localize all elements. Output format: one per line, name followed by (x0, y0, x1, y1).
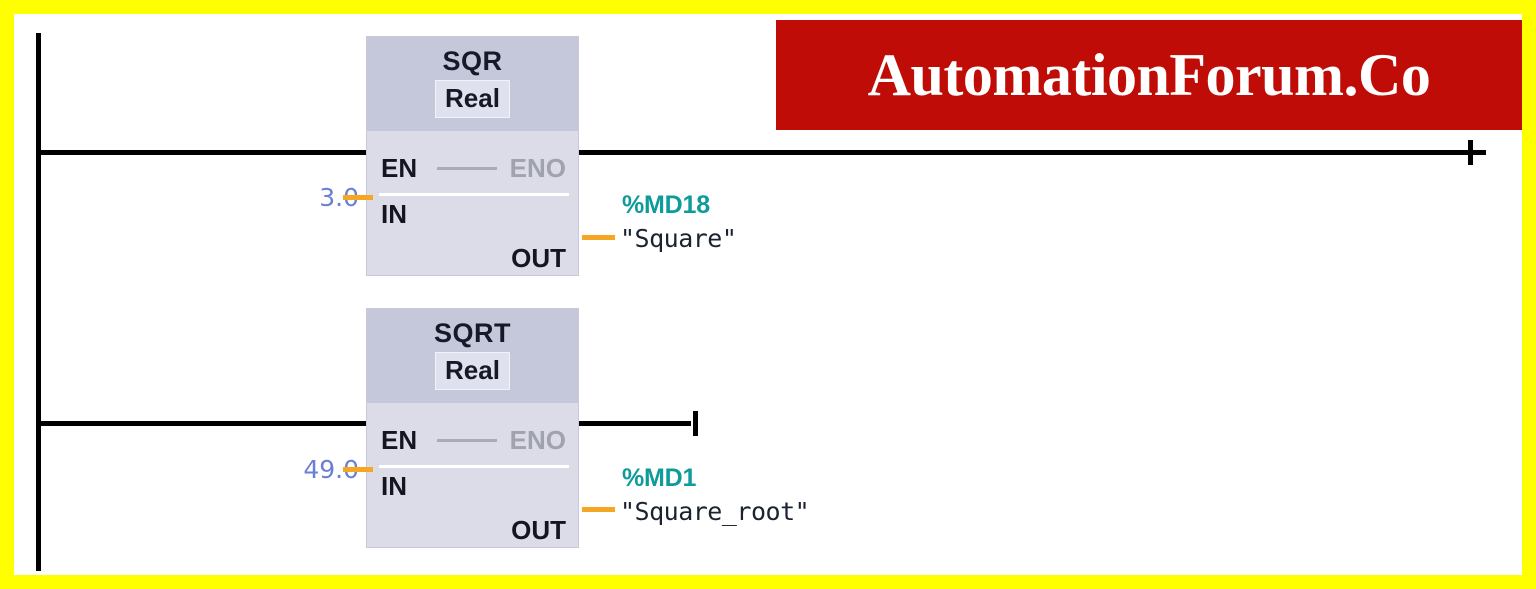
watermark-banner: AutomationForum.Co (776, 20, 1522, 130)
function-block-sqrt-out-row: OUT (367, 515, 578, 547)
function-block-sqr-out-row: OUT (367, 243, 578, 275)
en-eno-link-sqrt (437, 439, 497, 442)
output-address-sqr[interactable]: %MD18 (622, 191, 710, 219)
function-block-sqrt-datatype[interactable]: Real (435, 352, 510, 390)
output-wire-sqr (582, 235, 615, 240)
rung-terminator-network-1 (1468, 140, 1473, 165)
function-block-sqr-in-row: IN (367, 199, 578, 231)
function-block-sqrt-type-wrap: Real (367, 352, 578, 390)
en-row-separator-sqrt (379, 465, 569, 468)
pin-out-sqr[interactable]: OUT (511, 243, 566, 273)
rung-line-network-1 (36, 150, 1486, 155)
output-symbol-sqrt[interactable]: "Square_root" (620, 498, 809, 526)
input-wire-sqrt (343, 467, 373, 472)
function-block-sqrt-en-row: EN ENO (367, 425, 578, 457)
pin-in-sqrt[interactable]: IN (381, 471, 407, 501)
power-rail (36, 33, 41, 571)
output-wire-sqrt (582, 507, 615, 512)
function-block-sqrt[interactable]: SQRT Real EN ENO IN OUT (366, 308, 579, 548)
en-row-separator-sqr (379, 193, 569, 196)
function-block-sqr[interactable]: SQR Real EN ENO IN OUT (366, 36, 579, 276)
watermark-text: AutomationForum.Co (868, 42, 1431, 108)
output-address-sqrt[interactable]: %MD1 (622, 464, 696, 492)
rung-line-network-2 (36, 421, 691, 426)
function-block-sqr-type-wrap: Real (367, 80, 578, 118)
pin-eno-sqrt[interactable]: ENO (510, 425, 566, 455)
pin-en-sqrt[interactable]: EN (381, 425, 417, 455)
function-block-sqrt-in-row: IN (367, 471, 578, 503)
input-literal-sqrt[interactable]: 49.0 (242, 456, 359, 484)
function-block-sqr-en-row: EN ENO (367, 153, 578, 185)
function-block-sqrt-header: SQRT Real (367, 309, 578, 403)
function-block-sqr-header: SQR Real (367, 37, 578, 131)
pin-out-sqrt[interactable]: OUT (511, 515, 566, 545)
en-eno-link-sqr (437, 167, 497, 170)
ladder-logic-screenshot: SQR Real EN ENO IN OUT (0, 0, 1536, 589)
function-block-sqrt-title: SQRT (367, 317, 578, 349)
ladder-canvas: SQR Real EN ENO IN OUT (14, 14, 1522, 575)
function-block-sqr-datatype[interactable]: Real (435, 80, 510, 118)
pin-en-sqr[interactable]: EN (381, 153, 417, 183)
pin-eno-sqr[interactable]: ENO (510, 153, 566, 183)
input-wire-sqr (343, 195, 373, 200)
output-symbol-sqr[interactable]: "Square" (620, 225, 736, 253)
pin-in-sqr[interactable]: IN (381, 199, 407, 229)
rung-terminator-network-2 (693, 411, 698, 436)
function-block-sqr-title: SQR (367, 45, 578, 77)
